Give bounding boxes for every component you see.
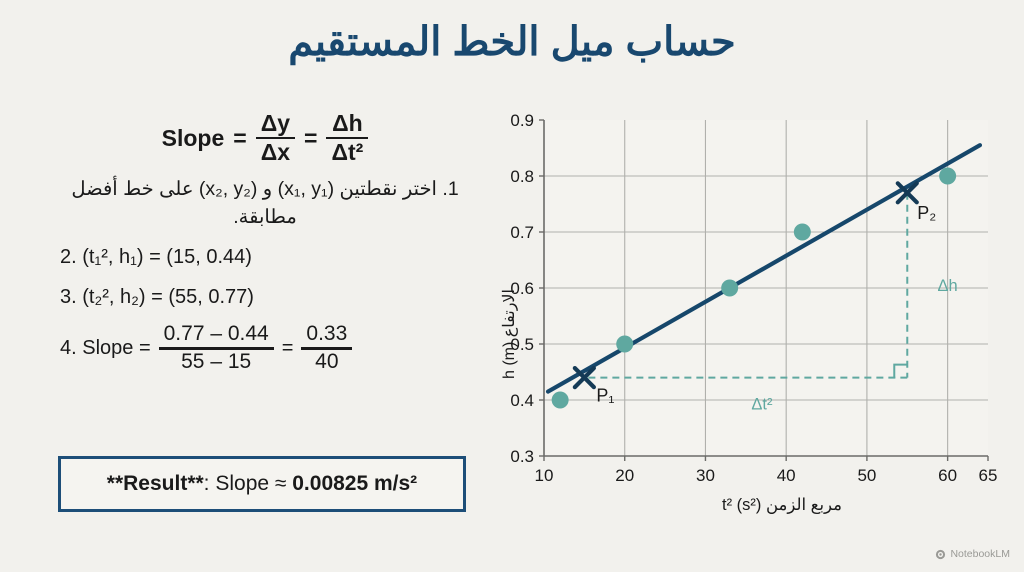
y-tick-label: 0.3 — [510, 447, 534, 466]
chart-svg: 0.30.40.50.60.70.80.9 10203040506065 ΔhΔ… — [492, 104, 1002, 524]
x-tick-labels: 10203040506065 — [535, 466, 998, 485]
data-point — [721, 280, 738, 297]
y-axis-label: الارتفاع h (m) — [501, 289, 518, 379]
formula-equals-2: = — [304, 125, 317, 152]
step-4-fraction-2: 0.33 40 — [301, 323, 352, 373]
step-4-fraction-1: 0.77 – 0.44 55 – 15 — [159, 323, 274, 373]
x-tick-label: 30 — [696, 466, 715, 485]
p2-label: P₂ — [917, 203, 936, 223]
step-4-label: 4. Slope = — [60, 335, 151, 362]
step-4-denominator-2: 40 — [310, 350, 343, 374]
data-point — [939, 168, 956, 185]
step-4-numerator-1: 0.77 – 0.44 — [159, 323, 274, 347]
result-value: 0.00825 m/s² — [292, 472, 417, 495]
step-1: 1. اختر نقطتين (x₁, y₁) و (x₂, y₂) على خ… — [40, 176, 490, 231]
formula-fraction-dh-dt2: Δh Δt² — [326, 111, 368, 165]
x-tick-label: 10 — [535, 466, 554, 485]
y-tick-label: 0.9 — [510, 111, 534, 130]
data-point — [552, 392, 569, 409]
y-tick-label: 0.8 — [510, 167, 534, 186]
step-4-numerator-2: 0.33 — [301, 323, 352, 347]
x-axis-label: مربع الزمن t² (s²) — [722, 496, 842, 515]
result-prefix: **Result** — [107, 472, 204, 495]
result-colon: : — [204, 472, 216, 495]
data-point — [616, 336, 633, 353]
formula-slope-label: Slope — [162, 125, 225, 152]
formula-fraction-dy-dx: Δy Δx — [256, 111, 295, 165]
result-text: **Result**: Slope ≈ 0.00825 m/s² — [107, 472, 417, 496]
formula-equals-1: = — [233, 125, 246, 152]
step-4-equals: = — [282, 335, 294, 362]
notebooklm-watermark: NotebookLM — [935, 548, 1010, 560]
y-tick-labels: 0.30.40.50.60.70.80.9 — [510, 111, 534, 466]
formula-numerator-dh: Δh — [327, 111, 368, 137]
x-tick-label: 65 — [979, 466, 998, 485]
watermark-label: NotebookLM — [950, 548, 1010, 560]
delta-h-label: Δh — [937, 277, 957, 295]
x-tick-label: 60 — [938, 466, 957, 485]
explanation-column: Slope = Δy Δx = Δh Δt² 1. اختر نقطتين (x… — [40, 108, 490, 373]
y-tick-label: 0.7 — [510, 223, 534, 242]
step-4: 4. Slope = 0.77 – 0.44 55 – 15 = 0.33 40 — [40, 323, 490, 373]
formula-denominator-dx: Δx — [256, 139, 295, 165]
result-slope-text: Slope ≈ — [215, 472, 292, 495]
x-tick-label: 50 — [857, 466, 876, 485]
y-tick-label: 0.4 — [510, 391, 534, 410]
steps-list: 1. اختر نقطتين (x₁, y₁) و (x₂, y₂) على خ… — [40, 176, 490, 373]
page-title: حساب ميل الخط المستقيم — [0, 18, 1024, 66]
formula-numerator-dy: Δy — [256, 111, 295, 137]
delta-t2-label: Δt² — [751, 396, 773, 414]
slope-formula: Slope = Δy Δx = Δh Δt² — [40, 108, 490, 168]
slide-canvas: حساب ميل الخط المستقيم Slope = Δy Δx = Δ… — [0, 0, 1024, 572]
formula-denominator-dt2: Δt² — [326, 139, 368, 165]
x-tick-label: 20 — [615, 466, 634, 485]
result-box: **Result**: Slope ≈ 0.00825 m/s² — [58, 456, 466, 512]
p1-label: P₁ — [596, 386, 614, 406]
slope-chart: 0.30.40.50.60.70.80.9 10203040506065 ΔhΔ… — [492, 104, 1002, 524]
step-3: 3. (t₂², h₂) = (55, 0.77) — [40, 284, 490, 311]
step-2: 2. (t₁², h₁) = (15, 0.44) — [40, 244, 490, 271]
notebooklm-logo-icon — [935, 549, 946, 560]
x-tick-label: 40 — [777, 466, 796, 485]
step-4-denominator-1: 55 – 15 — [176, 350, 256, 374]
data-point — [794, 224, 811, 241]
